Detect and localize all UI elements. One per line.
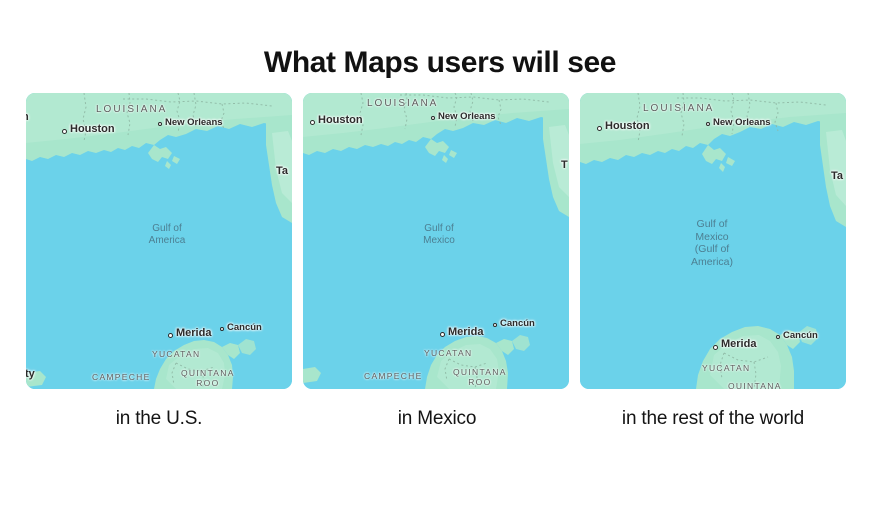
- city-dot-new-orleans-row: [706, 122, 710, 126]
- caption-rest-of-world: in the rest of the world: [580, 408, 846, 430]
- map-panels-row: n Houston New Orleans LOUISIANA Ta Gulf …: [26, 93, 846, 389]
- city-dot-new-orleans-us: [158, 122, 162, 126]
- city-dot-houston-mx: [310, 120, 315, 125]
- page-title: What Maps users will see: [0, 46, 880, 80]
- caption-us: in the U.S.: [26, 408, 292, 430]
- map-graphic-us: [26, 93, 292, 389]
- caption-mexico: in Mexico: [304, 408, 570, 430]
- map-panel-rest-of-world[interactable]: Houston New Orleans LOUISIANA Ta Gulf of…: [580, 93, 846, 389]
- city-dot-houston-us: [62, 129, 67, 134]
- map-panel-mexico[interactable]: Houston New Orleans LOUISIANA T Gulf of …: [303, 93, 569, 389]
- map-card-mexico[interactable]: Houston New Orleans LOUISIANA T Gulf of …: [303, 93, 569, 389]
- city-dot-cancun-us: [220, 327, 224, 331]
- city-dot-merida-us: [168, 333, 173, 338]
- city-dot-houston-row: [597, 126, 602, 131]
- city-dot-merida-row: [713, 345, 718, 350]
- map-panel-us[interactable]: n Houston New Orleans LOUISIANA Ta Gulf …: [26, 93, 292, 389]
- city-dot-merida-mx: [440, 332, 445, 337]
- city-dot-new-orleans-mx: [431, 116, 435, 120]
- map-card-us[interactable]: n Houston New Orleans LOUISIANA Ta Gulf …: [26, 93, 292, 389]
- city-dot-cancun-mx: [493, 323, 497, 327]
- map-card-rest-of-world[interactable]: Houston New Orleans LOUISIANA Ta Gulf of…: [580, 93, 846, 389]
- map-graphic-mexico: [303, 93, 569, 389]
- city-dot-cancun-row: [776, 335, 780, 339]
